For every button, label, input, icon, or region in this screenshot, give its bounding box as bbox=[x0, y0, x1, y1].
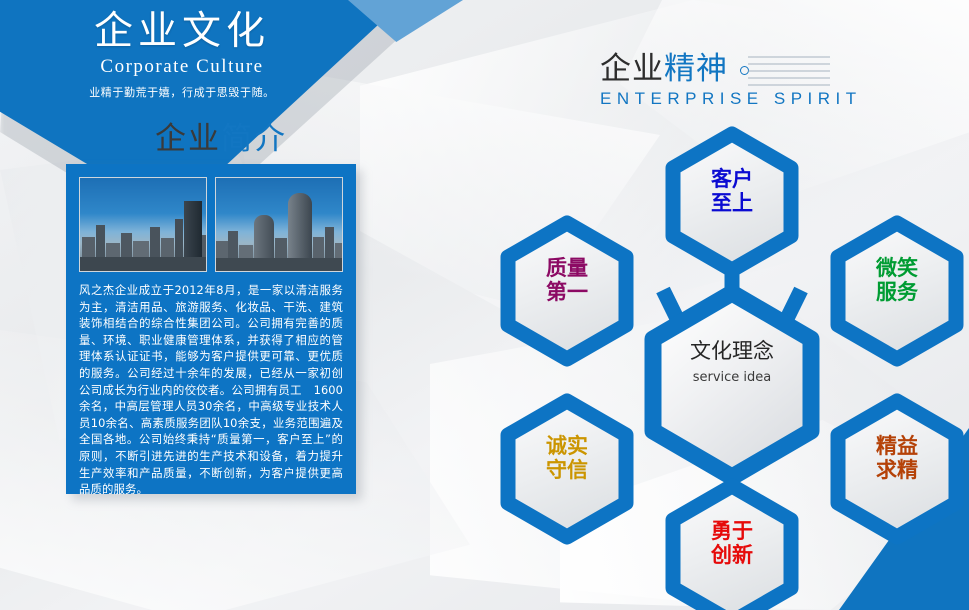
hex-node-innovation[interactable] bbox=[673, 486, 791, 610]
spirit-title-en: ENTERPRISE SPIRIT bbox=[600, 89, 862, 109]
culture-motto: 业精于勤荒于嬉，行成于思毁于随。 bbox=[32, 84, 332, 100]
hex-node-excellence[interactable] bbox=[838, 401, 956, 537]
profile-card: 风之杰企业成立于2012年8月，是一家以清洁服务为主，清洁用品、旅游服务、化妆品… bbox=[66, 164, 356, 494]
culture-header: 企业文化 Corporate Culture 业精于勤荒于嬉，行成于思毁于随。 bbox=[32, 12, 332, 100]
page-title-intro: 企业简介 bbox=[155, 113, 287, 158]
building-photo-2 bbox=[215, 177, 343, 272]
spirit-title-cn: 企业精神 bbox=[600, 52, 862, 86]
culture-title-en: Corporate Culture bbox=[32, 56, 332, 78]
decorative-microtext bbox=[748, 56, 830, 86]
hex-node-center[interactable] bbox=[653, 293, 811, 477]
spirit-title-cn-blue: 精神 bbox=[664, 51, 728, 87]
building-photo-1 bbox=[79, 177, 207, 272]
intro-title-prefix: 企业 bbox=[155, 121, 221, 157]
culture-hex-diagram: 客户 至上 质量 第一 微笑 服务 诚实 守信 精益 求精 勇于 创新 文化理念… bbox=[495, 115, 969, 610]
hex-node-customer-first[interactable] bbox=[673, 134, 791, 270]
photo-row bbox=[79, 177, 343, 272]
poster-canvas: 企业文化 Corporate Culture 业精于勤荒于嬉，行成于思毁于随。 … bbox=[0, 0, 969, 610]
spirit-title-cn-dark: 企业 bbox=[600, 51, 664, 87]
hex-node-smile-service[interactable] bbox=[838, 223, 956, 359]
hex-node-quality-first[interactable] bbox=[508, 223, 626, 359]
intro-title-suffix: 简介 bbox=[221, 121, 287, 157]
hex-diagram-svg bbox=[495, 115, 969, 610]
spirit-header: 企业精神 ENTERPRISE SPIRIT bbox=[600, 52, 862, 109]
culture-title-cn: 企业文化 bbox=[32, 12, 332, 53]
hex-node-integrity[interactable] bbox=[508, 401, 626, 537]
profile-body-text: 风之杰企业成立于2012年8月，是一家以清洁服务为主，清洁用品、旅游服务、化妆品… bbox=[79, 282, 343, 498]
